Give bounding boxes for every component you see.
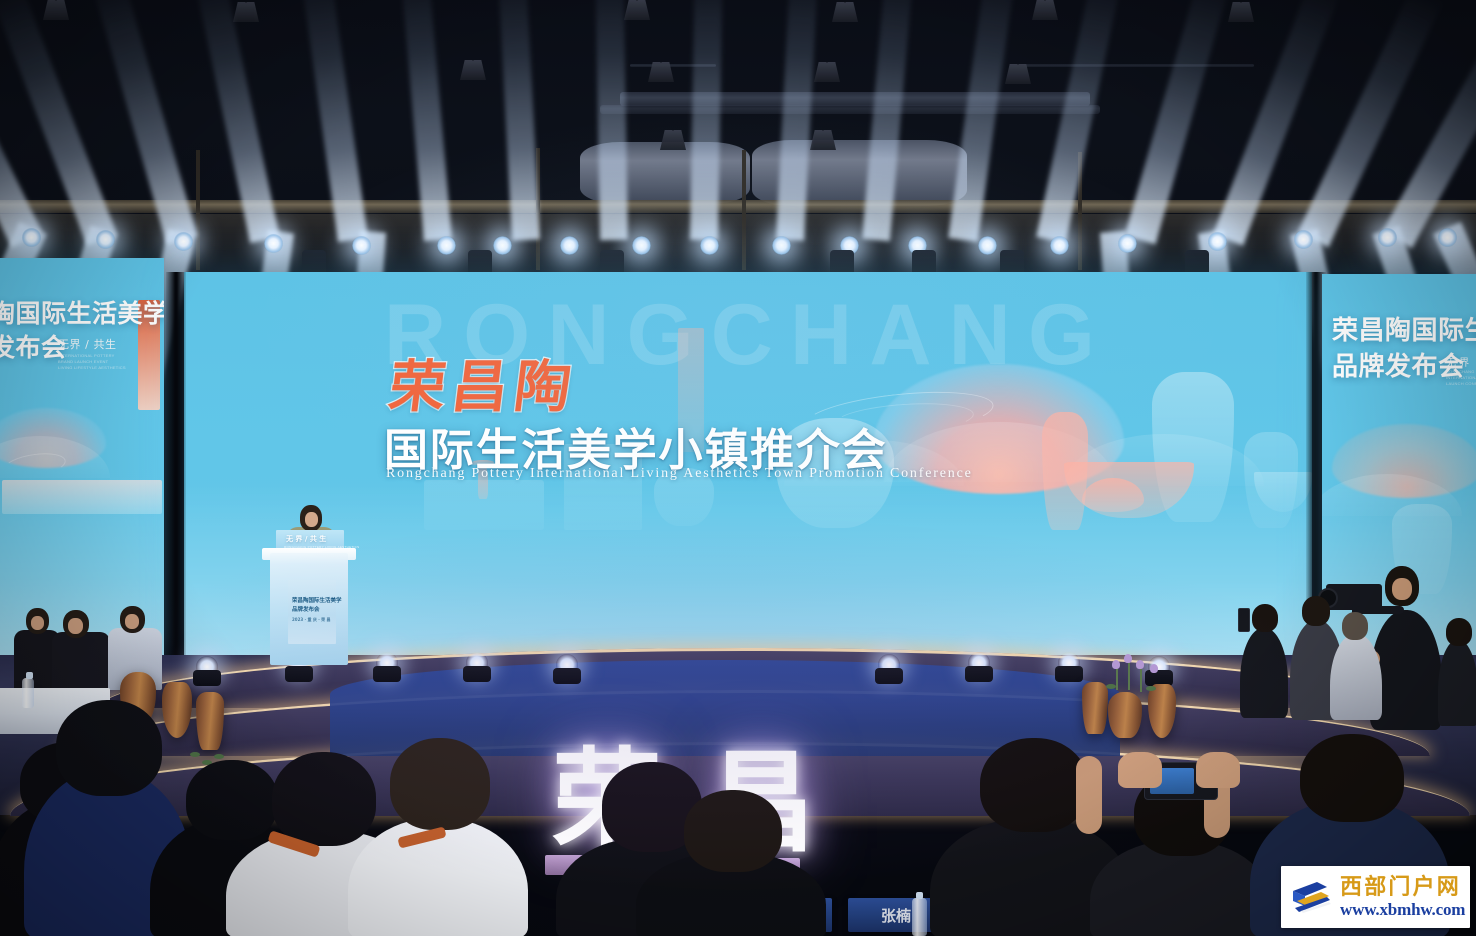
speaker-face [305,512,318,527]
crew-phone-1 [1238,608,1250,632]
main-screen-english-subtitle: Rongchang Pottery International Living A… [386,466,973,482]
site-watermark: 西部门户网 www.xbmhw.com [1281,866,1470,928]
water-bottle-2 [912,898,927,936]
guest-chair-right-head [1342,612,1368,640]
ceiling-frame-right [1024,64,1254,67]
beam-fixture-head-5 [352,236,371,255]
flower-stem-2 [1128,660,1130,690]
beam-fixture-head-20 [1438,228,1457,247]
podium-tagline: 无 界 / 共 生 [286,534,326,544]
stage-guest-2-body [52,632,110,694]
lighting-truss-shadow [0,214,1476,272]
flower-leaf-3 [190,752,200,757]
flower-bloom-4 [1150,664,1158,673]
nameplate-2-label: 张楠 [881,905,911,926]
floor-uplight-5 [556,654,578,676]
audience-member-8-head [980,738,1088,832]
beam-fixture-head-19 [1378,228,1397,247]
audience-member-5-head [390,738,490,830]
light-beam-up-8 [595,0,628,240]
flower-leaf-2 [1146,686,1156,691]
flower-bloom-1 [1112,660,1120,669]
beam-fixture-head-15 [1050,236,1069,255]
table-bottle [22,678,34,708]
beam-fixture-head-3 [174,232,193,251]
beam-fixture-head-4 [264,234,283,253]
light-beam-up-9 [690,0,723,240]
left-screen-line-1: 陶国际生活美学 [0,294,164,330]
right-screen-line-2: 品牌发布会 [1332,346,1465,383]
podium-card-line-3: 2023 · 重 庆 · 荣 昌 [292,617,331,623]
flower-leaf-5 [214,754,224,759]
left-screen-line-2: 发布会 [0,328,67,364]
videographer-face [1392,578,1412,600]
audience-member-2-head [56,700,162,796]
flower-stem-3 [1140,666,1142,692]
right-screen-tagline: 无 界 [1446,354,1469,369]
screen-bezel-gap-left [166,272,186,662]
crew-far-right-head [1446,618,1472,646]
audience-hand-right [1196,752,1240,788]
xbmhw-logo-icon [1287,875,1333,919]
flower-bloom-2 [1124,654,1132,663]
stage-guest-1-face [31,616,44,630]
audience-member-4-head [272,752,376,846]
beam-fixture-head-11 [772,236,791,255]
watermark-texts: 西部门户网 www.xbmhw.com [1340,877,1465,918]
audience-raised-arm-left [1076,756,1102,834]
floor-uplight-7 [968,652,990,674]
pottery-prop-3 [196,692,224,750]
main-screen-watermark-text: RONGCHANG [184,286,1312,385]
ceiling-duct-beam-2 [600,105,1100,114]
left-screen-tiny-text: INTERNATIONAL POTTERY BRAND LAUNCH EVENT… [58,353,126,371]
audience-member-7-head [684,790,782,872]
beam-fixture-head-10 [700,236,719,255]
beam-fixture-head-17 [1208,232,1227,251]
watermark-site-name: 西部门户网 [1340,877,1465,899]
beam-fixture-head-7 [493,236,512,255]
right-tiny-3: LAUNCH CONFERENCE [1446,381,1476,387]
beam-fixture-head-14 [978,236,997,255]
podium-card-line-2: 品牌发布会 [292,605,320,613]
stage-guest-3-face [125,614,139,629]
right-screen-line-1: 荣昌陶国际生活 [1332,310,1476,347]
beam-fixture-head-6 [437,236,456,255]
beam-fixture-head-16 [1118,234,1137,253]
crew-seated-head [1252,604,1278,632]
beam-fixture-head-18 [1294,230,1313,249]
ceiling-duct-beam [620,92,1090,106]
stage-guest-2-face [68,618,83,634]
floor-uplight-3 [376,652,398,674]
pottery-prop-6 [1108,692,1142,738]
gimbal-arm [1356,606,1404,614]
podium-card-line-1: 荣昌陶国际生活美学 [292,596,342,604]
led-screen-left: 陶国际生活美学 发布会 无界 / 共生 INTERNATIONAL POTTER… [0,258,164,662]
floor-uplight-6 [878,654,900,676]
main-screen-mist [184,483,1312,662]
audience-hand-left [1118,752,1162,788]
truss-upright-3 [742,150,746,270]
floor-uplight-8 [1058,652,1080,674]
audience-member-10-head [1300,734,1404,822]
beam-fixture-head-1 [22,228,41,247]
truss-upright-1 [196,150,200,270]
beam-fixture-head-8 [560,236,579,255]
beam-fixture-head-2 [96,230,115,249]
crew-standing-head [1302,596,1330,626]
pottery-prop-5 [1082,682,1108,734]
led-screen-main: RONGCHANG 荣昌陶 国际生活美学小镇推介会 Rongchang Pott… [184,272,1312,662]
right-screen-tiny-text: RONGCHANG POTTERY INTERNATIONAL BRAND LA… [1446,369,1476,387]
floor-uplight-4 [466,652,488,674]
left-screen-tagline: 无界 / 共生 [58,336,117,352]
audience-member-3-head [186,760,278,840]
floor-uplight-1 [196,656,218,678]
left-tiny-3: LIVING LIFESTYLE AESTHETICS [58,365,126,371]
watermark-url: www.xbmhw.com [1340,901,1465,918]
conference-stage-photo: 陶国际生活美学 发布会 无界 / 共生 INTERNATIONAL POTTER… [0,0,1476,936]
flower-leaf-1 [1106,684,1116,689]
beam-fixture-head-9 [632,236,651,255]
flower-bloom-3 [1136,660,1144,669]
main-screen-brand-title: 荣昌陶 [385,342,583,423]
crew-far-right-torso [1438,640,1476,726]
